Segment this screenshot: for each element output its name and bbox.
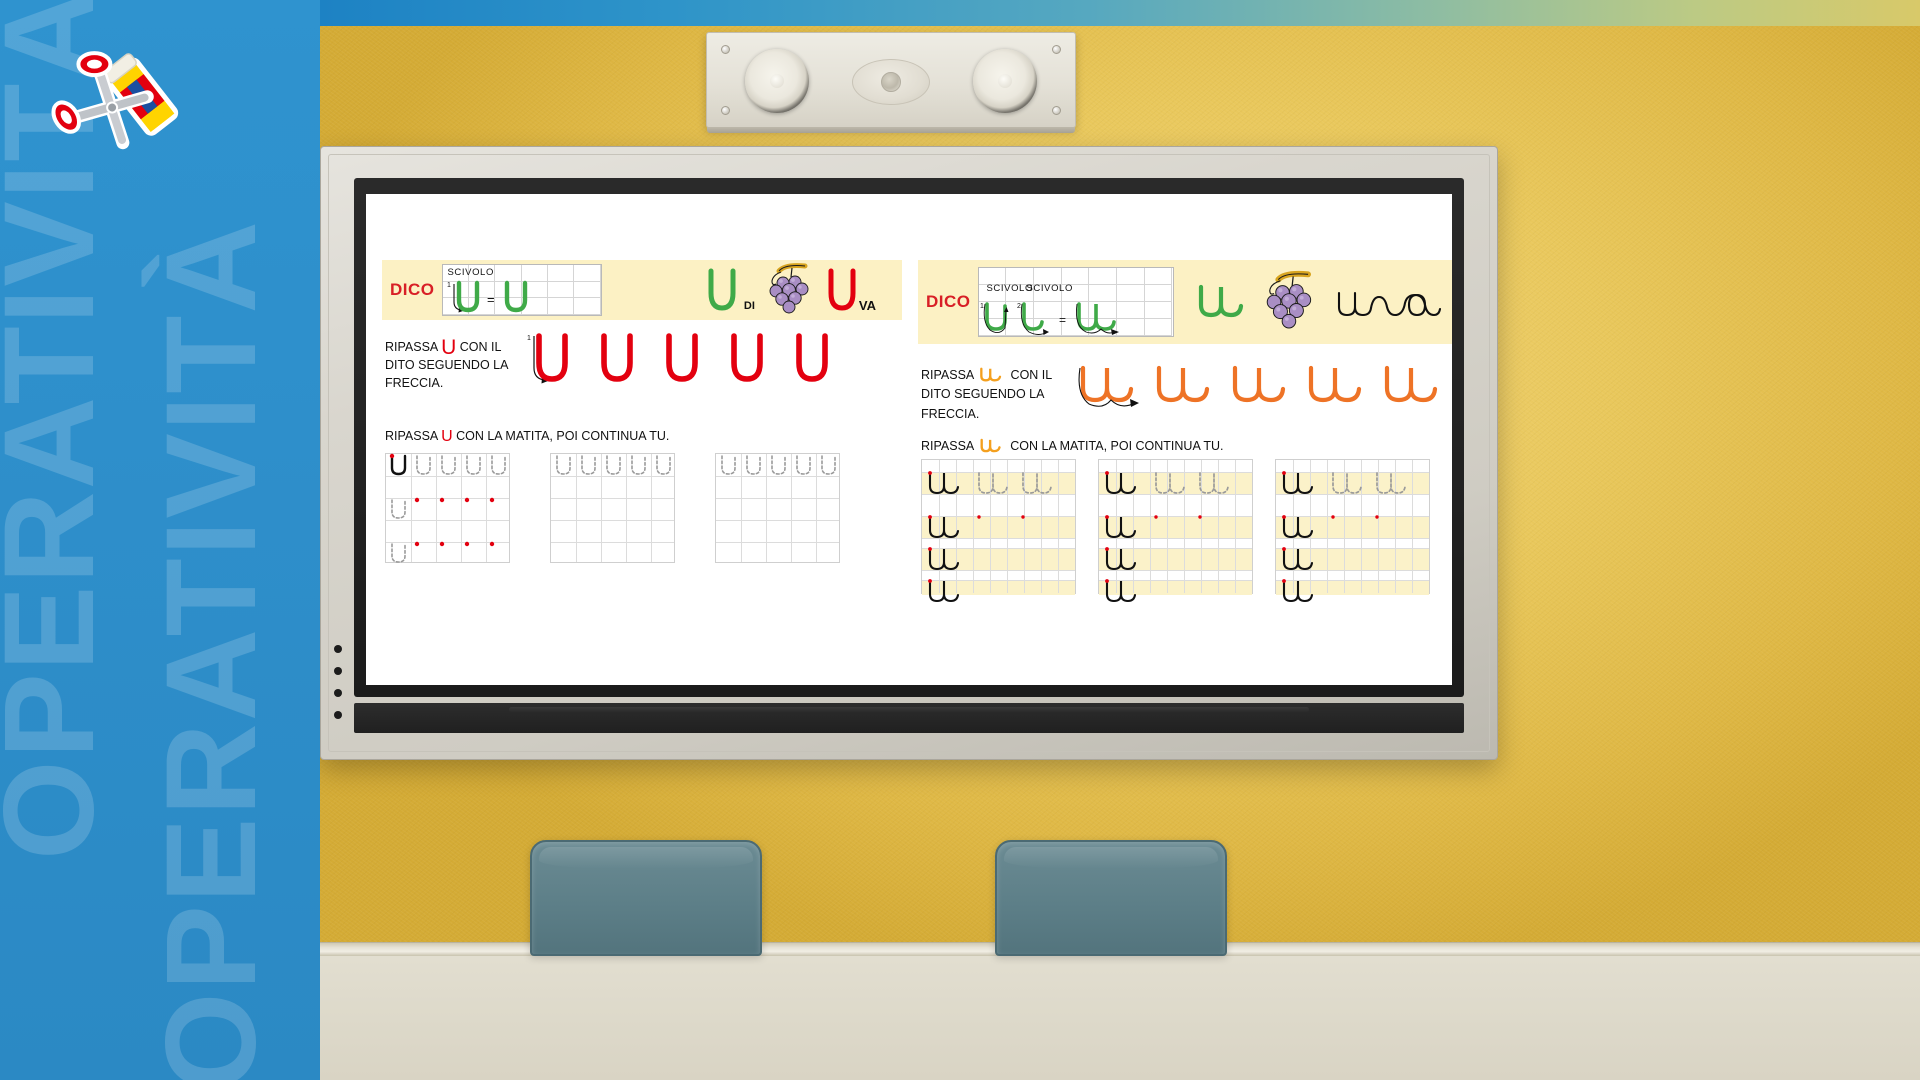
finger-trace-letters-left: 1	[525, 328, 855, 390]
word-letter-red-u	[825, 265, 859, 315]
speaker-woofer-right	[973, 49, 1037, 113]
dico-band-left: DICO SCIVOLO 1	[382, 260, 902, 320]
bezel-button-2[interactable]	[334, 667, 342, 675]
scivolo-label-1: SCIVOLO	[448, 267, 494, 278]
dico-grid-left: SCIVOLO 1 =	[442, 264, 602, 316]
speaker-screw	[1052, 106, 1061, 115]
pencil-exercise-right: RIPASSA CON LA MATITA, POI CONTINUA TU.	[918, 438, 1452, 594]
interactive-whiteboard[interactable]: DICO SCIVOLO 1	[320, 146, 1498, 760]
pencil-instruction-left: RIPASSA U CON LA MATITA, POI CONTINUA TU…	[385, 428, 902, 446]
pencil-grids-right	[921, 459, 1452, 594]
dico-grid-right: SCIVOLO SCIVOLO 1 2	[978, 267, 1174, 337]
finger-trace-letters-right	[1075, 362, 1452, 412]
sidebar-watermark-2: OPERATIVITÀ	[148, 219, 276, 1080]
pencil-inline-cursive-u	[978, 438, 1006, 453]
worksheet-page-right: DICO SCIVOLO SCIVOLO 1	[918, 194, 1452, 594]
svg-text:=: =	[487, 292, 495, 307]
scivolo-label-2: SCIVOLO	[1027, 283, 1073, 294]
worksheet-page-left: DICO SCIVOLO 1	[382, 194, 902, 563]
dico-label-right: DICO	[926, 292, 971, 312]
bezel-button-1[interactable]	[334, 645, 342, 653]
whiteboard-side-buttons[interactable]	[334, 645, 342, 719]
cursive-word-uva	[1333, 281, 1443, 323]
svg-text:1: 1	[980, 303, 984, 310]
chair-left	[530, 840, 762, 956]
dico-letters-right: 1 2 =	[979, 298, 1175, 340]
pencil-exercise-left: RIPASSA U CON LA MATITA, POI CONTINUA TU…	[382, 428, 902, 563]
pencil-instruction-right: RIPASSA CON LA MATITA, POI CONTINUA TU.	[921, 438, 1452, 453]
screen-bezel: DICO SCIVOLO 1	[354, 178, 1464, 697]
svg-text:=: =	[1059, 313, 1066, 327]
svg-text:1: 1	[527, 335, 531, 342]
floor-surface	[320, 956, 1920, 1080]
pencil-inline-letter: U	[441, 428, 453, 445]
pencil-text-before: RIPASSA	[921, 439, 974, 453]
practice-grid-3[interactable]	[715, 453, 840, 563]
finger-text-before: RIPASSA	[921, 368, 974, 382]
bezel-button-4[interactable]	[334, 711, 342, 719]
practice-grid-2[interactable]	[550, 453, 675, 563]
pencil-text-before: RIPASSA	[385, 429, 438, 443]
worksheet-canvas[interactable]: DICO SCIVOLO 1	[366, 194, 1452, 685]
dico-label-left: DICO	[390, 280, 435, 300]
word-letter-green-u	[704, 265, 740, 315]
grapes-illustration	[759, 259, 821, 321]
dico-band-right: DICO SCIVOLO SCIVOLO 1	[918, 260, 1452, 344]
bezel-button-3[interactable]	[334, 689, 342, 697]
word-connector-di: DI	[744, 300, 755, 321]
finger-exercise-left: RIPASSA U CON IL DITO SEGUENDO LA FRECCI…	[382, 338, 902, 392]
finger-exercise-right: RIPASSA CON IL DITO SEGUENDO LA FRECCIA.	[918, 366, 1452, 424]
speaker-screw	[721, 45, 730, 54]
pencil-text-after: CON LA MATITA, POI CONTINUA TU.	[1010, 439, 1223, 453]
dico-letters-left: 1 =	[445, 278, 605, 316]
practice-grid-cursive-2[interactable]	[1098, 459, 1253, 594]
speaker-screw	[1052, 45, 1061, 54]
pencil-grids-left	[385, 453, 902, 563]
grapes-illustration	[1257, 266, 1323, 338]
practice-grid-1[interactable]	[385, 453, 510, 563]
speaker-woofer-left	[745, 49, 809, 113]
word-row-left: DI	[602, 259, 895, 321]
finger-inline-letter: U	[441, 336, 456, 359]
word-row-right	[1174, 266, 1453, 338]
wall-speaker-bar	[706, 32, 1076, 128]
chair-right	[995, 840, 1227, 956]
word-rest-va: VA	[859, 298, 876, 321]
cursive-letter-green-u	[1195, 281, 1247, 323]
sidebar-operativita: OPERATIVITÀ OPERATIVITÀ	[0, 0, 322, 1080]
ceiling-gradient-band	[320, 0, 1920, 26]
speaker-screw	[721, 106, 730, 115]
svg-text:2: 2	[1017, 303, 1021, 310]
finger-text-before: RIPASSA	[385, 340, 438, 354]
scissors-and-glue-stick-icon	[48, 36, 198, 186]
finger-inline-cursive-u	[977, 367, 1007, 383]
pencil-text-after: CON LA MATITA, POI CONTINUA TU.	[456, 429, 669, 443]
practice-grid-cursive-1[interactable]	[921, 459, 1076, 594]
whiteboard-bottom-strip	[354, 703, 1464, 733]
whiteboard-screen[interactable]: DICO SCIVOLO 1	[366, 194, 1452, 685]
svg-text:1: 1	[447, 282, 451, 289]
practice-grid-cursive-3[interactable]	[1275, 459, 1430, 594]
classroom-scene: DICO SCIVOLO 1	[320, 0, 1920, 1080]
speaker-tweeter-center	[852, 59, 930, 105]
